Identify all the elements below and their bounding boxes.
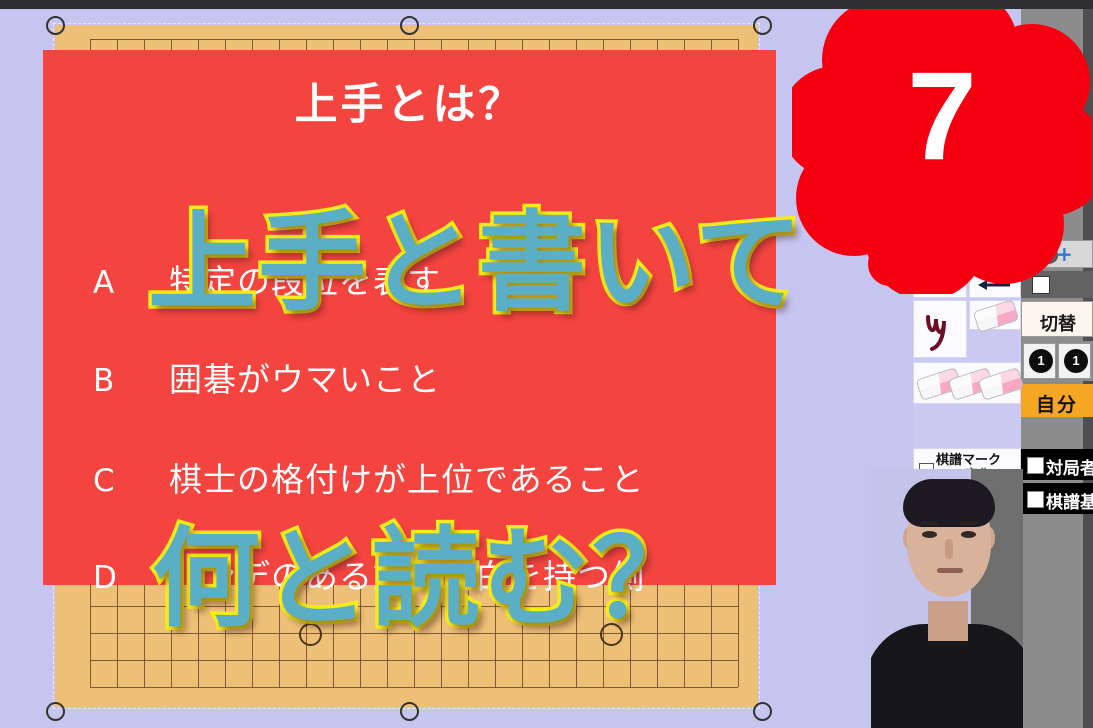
resize-handle[interactable] [400, 702, 419, 721]
question-number: 7 [792, 54, 1092, 179]
eraser-row[interactable] [913, 362, 1021, 404]
screen-root: 上手とは？ A特定の段位を表す B囲碁がウマいこと C棋士の格付けが上位であるこ… [0, 0, 1093, 728]
player-checkbox[interactable] [1027, 457, 1044, 474]
option-text-b: 囲碁がウマいこと [169, 360, 441, 399]
quiz-option-b: B囲碁がウマいこと [93, 353, 441, 401]
person-eye-left [922, 531, 937, 538]
kifu-checkbox-label: 棋譜基 [1046, 488, 1093, 513]
person-neck [928, 601, 968, 641]
resize-handle[interactable] [46, 702, 65, 721]
quiz-title: 上手とは？ [43, 70, 776, 132]
scribble-pen-tool[interactable] [913, 300, 967, 358]
stone-button-1[interactable]: 1 [1023, 343, 1056, 379]
switch-button-label: 切替 [1022, 310, 1093, 336]
self-button-label: 自分 [1021, 390, 1093, 417]
person-eye-right [961, 531, 976, 538]
person-nose [945, 539, 953, 559]
eraser-icon [973, 299, 1020, 333]
switch-button[interactable]: 切替 [1021, 301, 1093, 337]
grid-line-horizontal [90, 660, 738, 661]
option-letter-b: B [93, 363, 169, 399]
eraser-tool-2[interactable] [969, 300, 1021, 330]
grid-line-horizontal [90, 687, 738, 688]
self-button[interactable]: 自分 [1021, 384, 1093, 417]
grid-line-horizontal [90, 39, 738, 40]
kifu-checkbox-row[interactable]: 棋譜基 [1021, 483, 1093, 514]
webcam-overlay[interactable] [871, 469, 1023, 728]
resize-handle[interactable] [753, 702, 772, 721]
person-mouth [937, 568, 963, 573]
kifu-checkbox[interactable] [1027, 491, 1044, 508]
caption-line-2: 何と読む？ [152, 492, 702, 648]
resize-handle[interactable] [753, 16, 772, 35]
player-checkbox-row[interactable]: 対局者 [1021, 449, 1093, 480]
resize-handle[interactable] [46, 16, 65, 35]
resize-handle[interactable] [400, 16, 419, 35]
black-stone-icon: 1 [1064, 349, 1088, 373]
scribble-icon [918, 305, 966, 357]
stone-button-1-label: 1 [1029, 349, 1053, 373]
stone-button-row: 1 1 [1021, 341, 1093, 381]
question-number-badge: 7 [792, 2, 1092, 294]
stone-button-2[interactable]: 1 [1058, 343, 1091, 379]
person-brow-right [959, 521, 977, 525]
player-checkbox-label: 対局者 [1046, 454, 1093, 479]
black-stone-icon: 1 [1029, 349, 1053, 373]
kifu-mark-label-line1: 棋譜マーク [936, 453, 1020, 468]
caption-line-1: 上手と書いて [148, 176, 805, 332]
stone-button-2-label: 1 [1064, 349, 1088, 373]
person-brow-left [920, 521, 938, 525]
person-hair [903, 479, 995, 527]
top-bar [0, 0, 1093, 9]
